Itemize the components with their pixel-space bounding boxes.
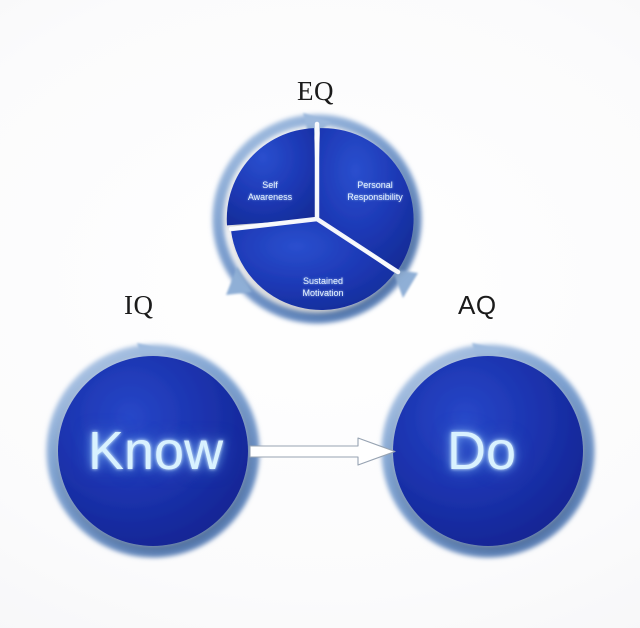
node-label-aq: AQ bbox=[458, 292, 497, 318]
node-label-eq: EQ bbox=[297, 78, 334, 105]
node-text-know: Know bbox=[88, 424, 223, 478]
node-label-iq: IQ bbox=[124, 292, 154, 319]
diagram-canvas: EQ IQ AQ Know Do Self Awareness Personal… bbox=[0, 0, 640, 628]
eq-label-line-2: Responsibility bbox=[335, 192, 415, 204]
connector-know-to-do[interactable] bbox=[250, 438, 395, 465]
eq-label-line-1: Personal bbox=[335, 180, 415, 192]
eq-label-line-1: Self bbox=[235, 180, 305, 192]
eq-label-line-2: Motivation bbox=[285, 288, 361, 300]
eq-label-line-2: Awareness bbox=[235, 192, 305, 204]
eq-segment-label-personal-responsibility: Personal Responsibility bbox=[335, 180, 415, 203]
eq-label-line-1: Sustained bbox=[285, 276, 361, 288]
eq-segment-label-sustained-motivation: Sustained Motivation bbox=[285, 276, 361, 299]
block-arrow-icon bbox=[250, 438, 395, 465]
eq-segment-self-awareness[interactable] bbox=[227, 128, 317, 225]
eq-segment-label-self-awareness: Self Awareness bbox=[235, 180, 305, 203]
node-text-do: Do bbox=[447, 424, 516, 478]
